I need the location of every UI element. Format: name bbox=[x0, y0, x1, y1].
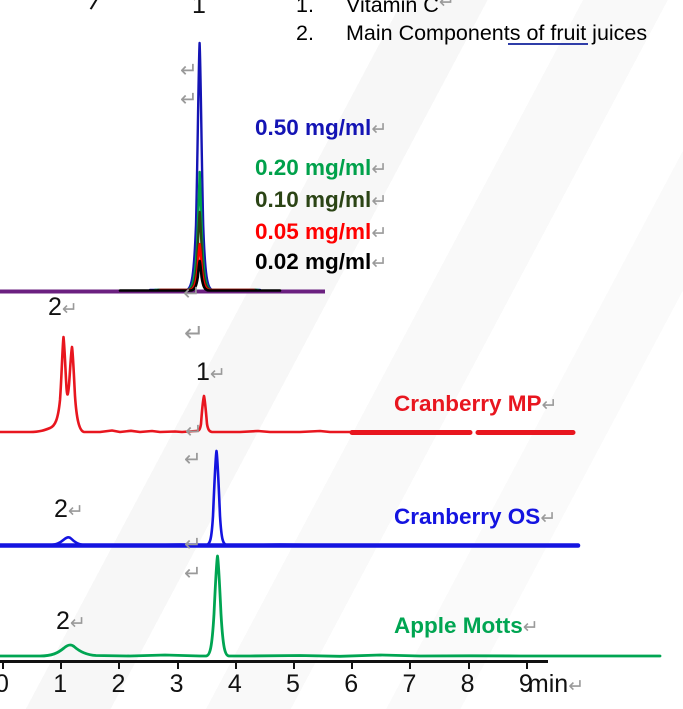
axis-tick bbox=[526, 660, 528, 669]
return-mark-icon: ↵ bbox=[184, 322, 204, 346]
sample-name: Apple Motts bbox=[394, 613, 523, 638]
axis-tick-label: 6 bbox=[344, 670, 358, 699]
return-mark-icon: ↵ bbox=[523, 617, 539, 638]
return-mark-icon: ↵ bbox=[184, 449, 202, 470]
return-mark-icon: ↵ bbox=[371, 191, 387, 212]
legend-label: 0.20 mg/ml bbox=[255, 155, 371, 180]
axis-tick-label: 1 bbox=[53, 670, 67, 699]
return-mark-icon: ↵ bbox=[540, 508, 556, 529]
axis-line bbox=[0, 660, 548, 663]
return-mark-icon: ↵ bbox=[371, 119, 387, 140]
trace-cranberry-os bbox=[0, 451, 578, 545]
peak-number: 2 bbox=[48, 293, 62, 321]
sample-label-cranberry-mp: Cranberry MP↵ bbox=[394, 391, 557, 417]
peak-label-cranberry-mp-1: 1↵ bbox=[196, 358, 226, 387]
peak-number: 2 bbox=[54, 495, 68, 523]
return-mark-icon: ↵ bbox=[184, 563, 202, 584]
return-mark-icon: ↵ bbox=[371, 253, 387, 274]
axis-tick-label: 0 bbox=[0, 670, 9, 699]
axis-tick bbox=[293, 660, 295, 669]
legend-item-050: 0.50 mg/ml↵ bbox=[255, 115, 387, 141]
peak-number: 2 bbox=[56, 607, 70, 635]
axis-tick bbox=[235, 660, 237, 669]
axis-tick bbox=[2, 660, 4, 669]
return-mark-icon: ↵ bbox=[183, 283, 201, 304]
peak-label-calibration-1: 1 bbox=[192, 0, 206, 20]
axis-unit-label: min↵ bbox=[528, 670, 584, 699]
sample-name: Cranberry MP bbox=[394, 391, 542, 416]
sample-name: Cranberry OS bbox=[394, 504, 540, 529]
axis-tick-label: 4 bbox=[228, 670, 242, 699]
axis-tick bbox=[118, 660, 120, 669]
trace-cranberry-mp bbox=[0, 337, 352, 432]
axis-tick-label: 2 bbox=[111, 670, 125, 699]
chromatogram-plot bbox=[0, 0, 683, 709]
axis-tick-label: 8 bbox=[461, 670, 475, 699]
legend-label: 0.02 mg/ml bbox=[255, 249, 371, 274]
return-mark-icon: ↵ bbox=[180, 89, 198, 110]
sample-label-apple-motts: Apple Motts↵ bbox=[394, 613, 539, 639]
legend-item-020: 0.20 mg/ml↵ bbox=[255, 155, 387, 181]
trace-050-mgml bbox=[150, 43, 260, 290]
legend-label: 0.50 mg/ml bbox=[255, 115, 371, 140]
slide-canvas: / 1. Vitamin C ↵ 2. Main Components of f… bbox=[0, 0, 683, 709]
legend-item-002: 0.02 mg/ml↵ bbox=[255, 249, 387, 275]
peak-number: 1 bbox=[192, 0, 206, 19]
axis-tick-label: 7 bbox=[402, 670, 416, 699]
legend-item-010: 0.10 mg/ml↵ bbox=[255, 187, 387, 213]
legend-item-005: 0.05 mg/ml↵ bbox=[255, 219, 387, 245]
axis-tick-label: 3 bbox=[170, 670, 184, 699]
axis-unit-underline bbox=[508, 43, 588, 45]
return-mark-icon: ↵ bbox=[185, 421, 203, 442]
sample-label-cranberry-os: Cranberry OS↵ bbox=[394, 504, 556, 530]
return-mark-icon: ↵ bbox=[68, 501, 84, 522]
axis-tick bbox=[468, 660, 470, 669]
trace-apple-motts bbox=[0, 556, 660, 656]
axis-tick bbox=[409, 660, 411, 669]
peak-label-cranberry-mp-2: 2↵ bbox=[48, 293, 78, 322]
return-mark-icon: ↵ bbox=[184, 534, 202, 555]
return-mark-icon: ↵ bbox=[70, 613, 86, 634]
peak-label-cranberry-os-2: 2↵ bbox=[54, 495, 84, 524]
return-mark-icon: ↵ bbox=[371, 159, 387, 180]
legend-label: 0.05 mg/ml bbox=[255, 219, 371, 244]
return-mark-icon: ↵ bbox=[568, 676, 584, 697]
axis-tick bbox=[60, 660, 62, 669]
return-mark-icon: ↵ bbox=[62, 299, 78, 320]
legend-label: 0.10 mg/ml bbox=[255, 187, 371, 212]
peak-number: 1 bbox=[196, 358, 210, 386]
return-mark-icon: ↵ bbox=[180, 60, 198, 81]
return-mark-icon: ↵ bbox=[210, 364, 226, 385]
return-mark-icon: ↵ bbox=[371, 223, 387, 244]
axis-unit-text: min bbox=[528, 670, 568, 698]
axis-tick-label: 5 bbox=[286, 670, 300, 699]
return-mark-icon: ↵ bbox=[542, 395, 558, 416]
axis-tick bbox=[177, 660, 179, 669]
peak-label-apple-motts-2: 2↵ bbox=[56, 607, 86, 636]
axis-tick bbox=[351, 660, 353, 669]
